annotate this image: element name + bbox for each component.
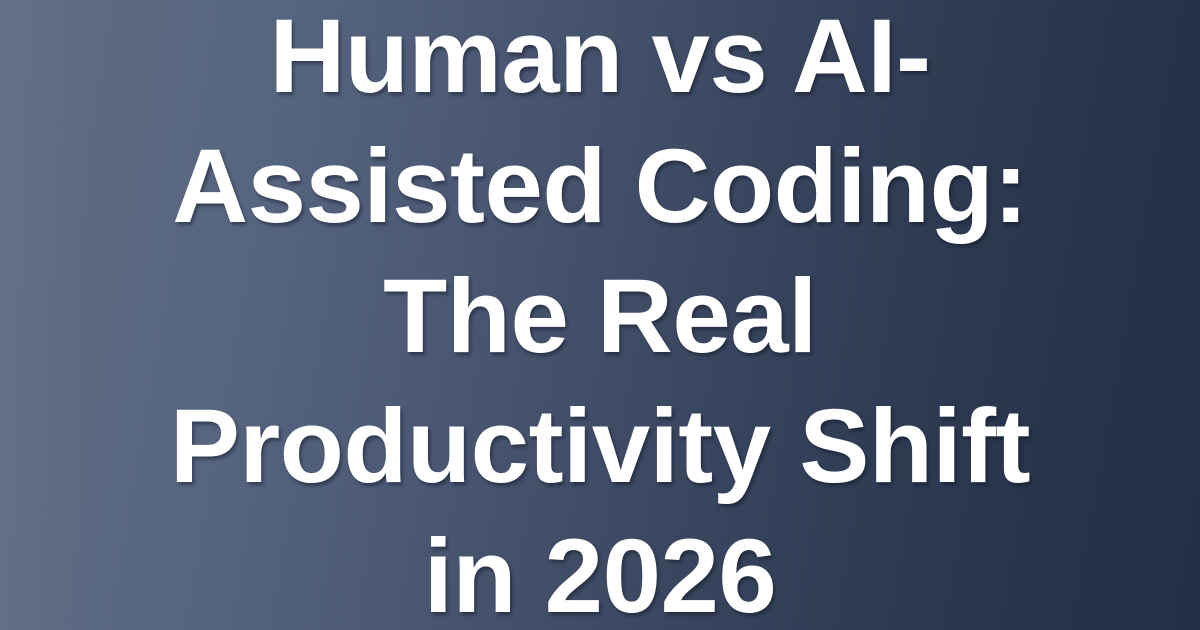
title-line-1: Human vs AI- [90, 0, 1110, 122]
title-line-4: Productivity Shift [90, 382, 1110, 512]
title-line-2: Assisted Coding: [90, 122, 1110, 252]
title-line-3: The Real [90, 252, 1110, 382]
share-card: Human vs AI- Assisted Coding: The Real P… [0, 0, 1200, 630]
page-title: Human vs AI- Assisted Coding: The Real P… [0, 0, 1200, 630]
title-line-5: in 2026 [90, 512, 1110, 630]
